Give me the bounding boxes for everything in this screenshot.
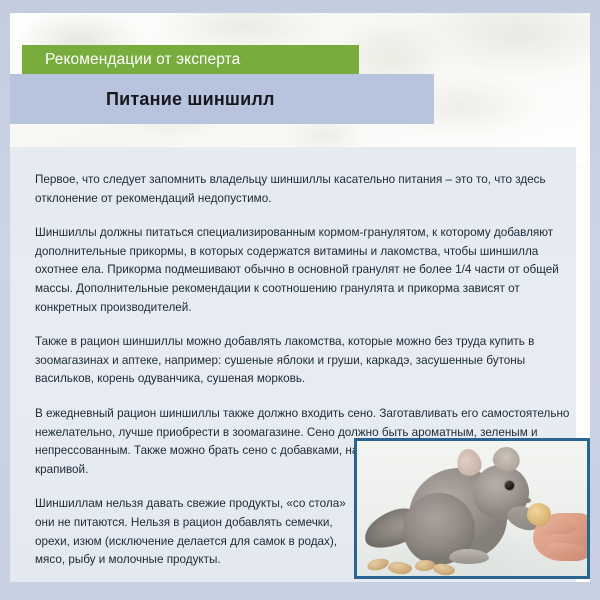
- chinchilla-photo: [354, 438, 590, 579]
- kicker-label: Рекомендации от эксперта: [22, 51, 240, 69]
- article-sheet: Рекомендации от эксперта Питание шиншилл…: [10, 13, 590, 582]
- paragraph: Шиншиллам нельзя давать свежие продукты,…: [35, 495, 365, 569]
- page-title: Питание шиншилл: [10, 89, 275, 110]
- paragraph: Также в рацион шиншиллы можно добавлять …: [35, 333, 580, 389]
- photo-illustration: [357, 441, 587, 576]
- chinchilla-foot: [449, 549, 489, 564]
- title-bar: Питание шиншилл: [10, 74, 434, 124]
- treat-biscuit: [527, 503, 551, 526]
- chinchilla-nose: [524, 498, 531, 503]
- page-background: Рекомендации от эксперта Питание шиншилл…: [0, 0, 600, 600]
- paragraph: Шиншиллы должны питаться специализирован…: [35, 224, 580, 317]
- expert-recommendation-banner: Рекомендации от эксперта: [22, 45, 359, 74]
- chinchilla-eye: [505, 481, 514, 490]
- paragraph: Первое, что следует запомнить владельцу …: [35, 171, 580, 208]
